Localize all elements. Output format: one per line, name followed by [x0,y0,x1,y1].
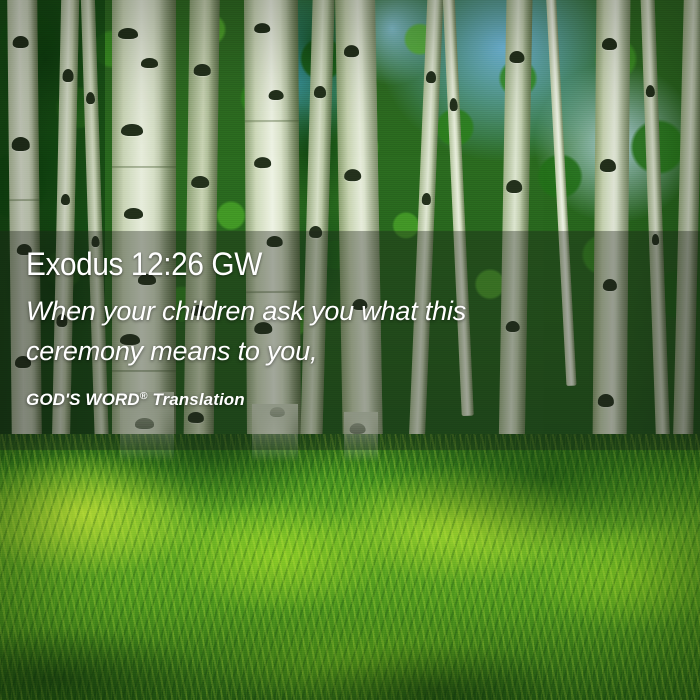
verse-body: When your children ask you what this cer… [26,291,676,371]
verse-reference: Exodus 12:26 GW [26,245,631,283]
registered-trademark-icon: ® [140,390,148,402]
translation-suffix: Translation [148,390,245,409]
translation-credit: GOD'S WORD® Translation [26,385,676,411]
verse-line: When your children ask you what this [26,291,676,331]
verse-card: Exodus 12:26 GW When your children ask y… [0,0,700,700]
verse-line: ceremony means to you, [26,331,676,371]
verse-text-block: Exodus 12:26 GW When your children ask y… [0,231,700,450]
translation-name: GOD'S WORD [26,390,140,409]
